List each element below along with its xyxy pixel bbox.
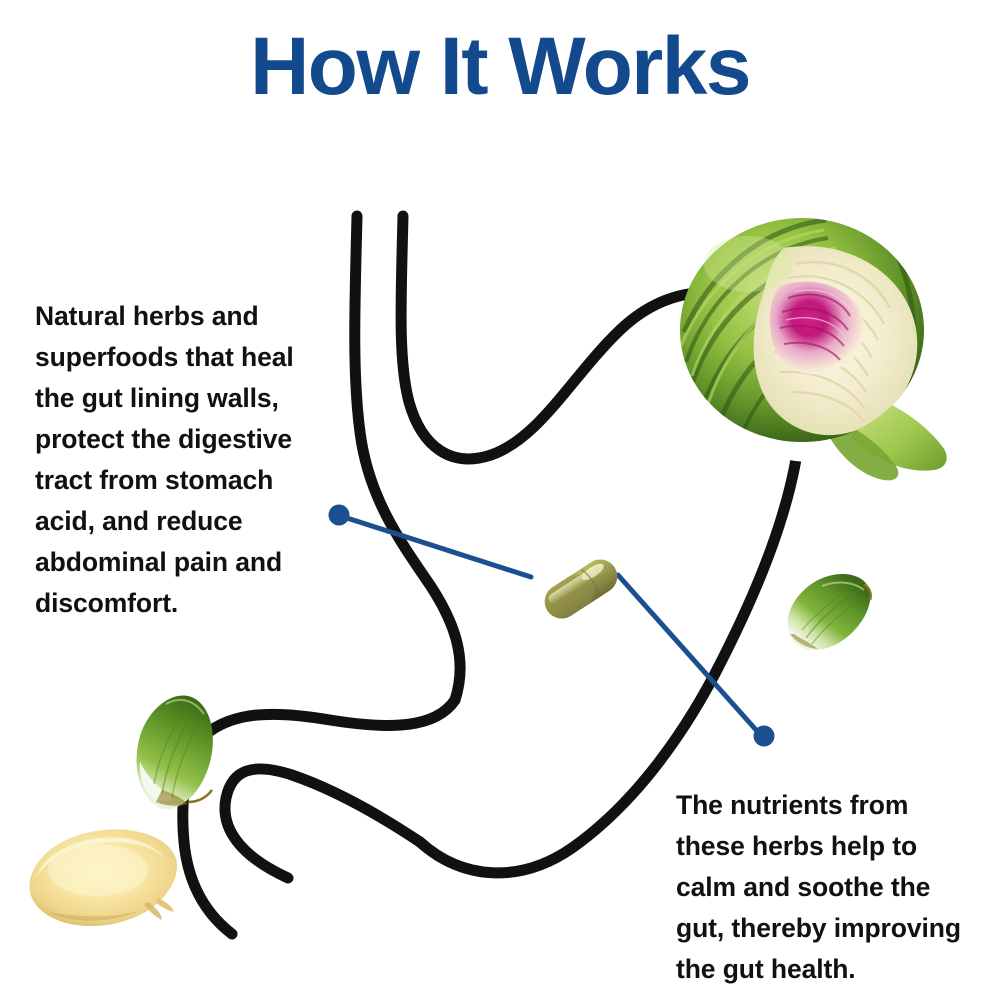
infographic-canvas: How It Works	[0, 0, 1000, 1000]
duodenum-inner-limb	[225, 769, 420, 878]
artichoke-half-image	[676, 212, 976, 502]
callout-right-text: The nutrients from these herbs help to c…	[676, 785, 976, 990]
stomach-lesser-curvature	[205, 700, 455, 735]
capsule-image	[526, 534, 636, 644]
callout-right-dot	[754, 726, 775, 747]
callout-left-dot	[329, 505, 350, 526]
callout-left-text: Natural herbs and superfoods that heal t…	[35, 296, 320, 624]
callout-right-line	[618, 575, 757, 731]
artichoke-leaf-right-image	[780, 568, 875, 660]
callout-left-line	[347, 518, 531, 577]
artichoke-leaf-left-image	[126, 686, 223, 812]
ginger-slice-image	[22, 818, 182, 940]
